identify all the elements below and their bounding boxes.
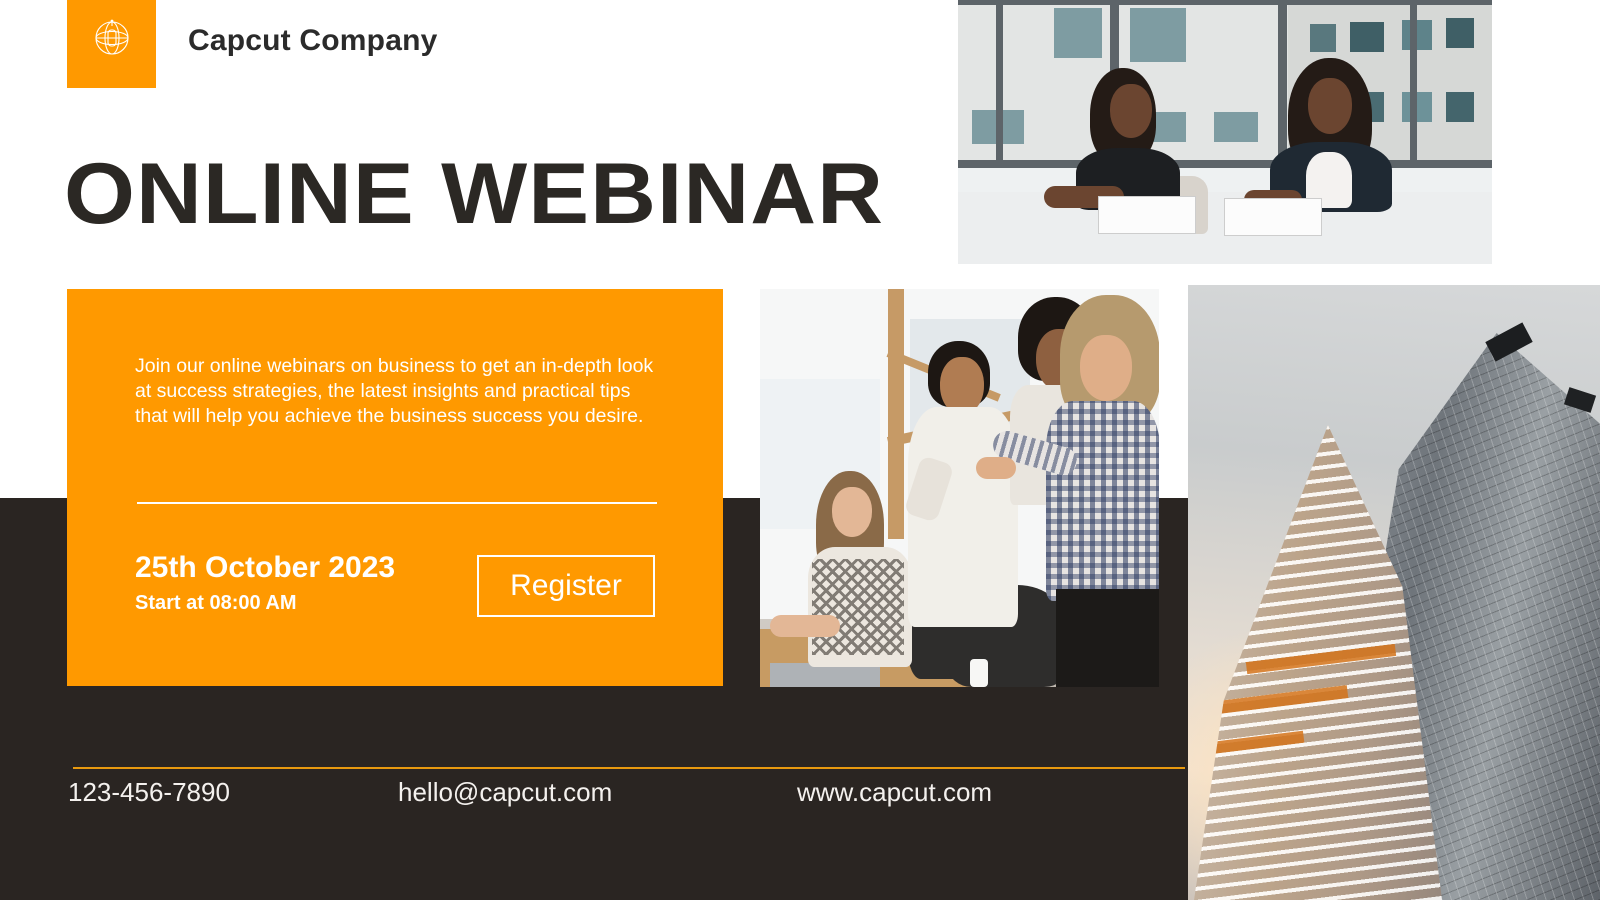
globe-icon [90, 16, 134, 60]
contact-phone[interactable]: 123-456-7890 [68, 777, 230, 808]
skyscraper-photo [1188, 285, 1600, 900]
team-collaboration-photo [760, 289, 1159, 687]
footer-divider [73, 767, 1185, 769]
contact-website[interactable]: www.capcut.com [797, 777, 992, 808]
info-panel: Join our online webinars on business to … [67, 289, 723, 686]
contact-email[interactable]: hello@capcut.com [398, 777, 612, 808]
event-date: 25th October 2023 [135, 551, 395, 585]
event-start-time: Start at 08:00 AM [135, 592, 297, 615]
company-name: Capcut Company [188, 24, 438, 58]
two-women-meeting-photo [958, 0, 1492, 264]
webinar-poster: Capcut Company ONLINE WEBINAR Join our o… [0, 0, 1600, 900]
logo-tile [67, 0, 156, 88]
page-title: ONLINE WEBINAR [64, 146, 884, 242]
register-button[interactable]: Register [477, 555, 655, 617]
panel-description: Join our online webinars on business to … [135, 354, 667, 429]
register-button-label: Register [510, 569, 622, 603]
panel-divider [137, 502, 657, 504]
